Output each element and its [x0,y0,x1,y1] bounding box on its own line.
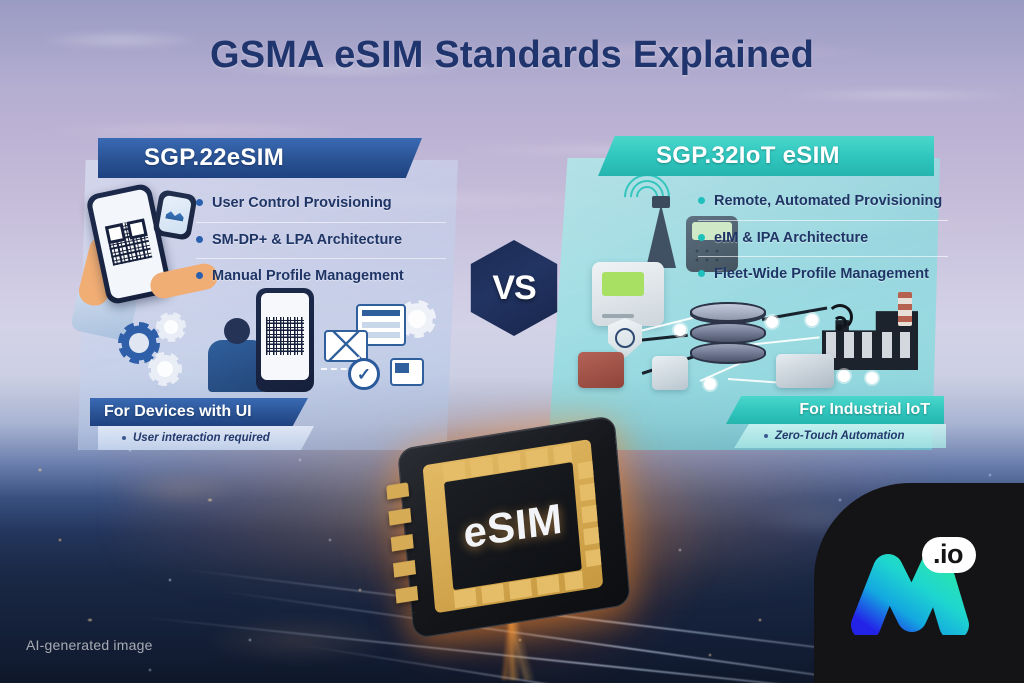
wifi-dot [836,324,843,331]
bullet-dot-icon [122,436,126,440]
gateway-device-icon [592,262,664,326]
page-title: GSMA eSIM Standards Explained [0,34,1024,77]
logo-wordmark: .io [922,537,976,573]
qr-code-icon [266,317,304,355]
ai-generated-watermark: AI-generated image [26,637,153,653]
list-item-label: SM-DP+ & LPA Architecture [212,232,402,249]
chip-die: eSIM [444,462,582,590]
ribbon-title-sub: eSIM [227,144,284,172]
list-item-label: User Control Provisioning [212,195,392,212]
checkmark-icon: ✓ [348,358,380,390]
chimney-icon [898,292,912,326]
panel-sgp32-ribbon-title: SGP.32 IoT eSIM [598,136,934,176]
list-item: User Control Provisioning [196,186,446,222]
chip-label: eSIM [461,494,564,558]
infographic-canvas: GSMA eSIM Standards Explained ✓ [0,0,1024,683]
iot-box-icon [578,352,624,388]
list-item-label: Fleet-Wide Profile Management [714,266,929,283]
list-item: eIM & IPA Architecture [698,220,948,257]
list-item: Fleet-Wide Profile Management [698,256,948,293]
ribbon-title-sub: IoT eSIM [739,142,840,170]
bullet-dot-icon [698,270,705,277]
panel-sgp22-ribbon-title: SGP.22 eSIM [98,138,422,178]
footer-note-label: Zero-Touch Automation [775,430,904,442]
cell-tower-icon [644,196,678,270]
iot-box-icon [776,354,834,388]
qr-code-icon [105,218,152,265]
network-node-icon [766,316,778,328]
bullet-dot-icon [698,234,705,241]
list-item-label: Remote, Automated Provisioning [714,193,942,210]
esim-chip: eSIM [397,415,631,639]
network-node-icon [806,314,818,326]
footer-note-label: User interaction required [133,432,270,444]
mini-window-icon [390,358,424,386]
person-head [224,318,250,344]
bullet-dot-icon [196,236,203,243]
vs-badge: VS [466,240,562,336]
panel-sgp32-bullet-list: Remote, Automated Provisioning eIM & IPA… [698,184,948,293]
smartwatch-icon [152,189,197,241]
bullet-dot-icon [196,272,203,279]
list-item: Remote, Automated Provisioning [698,184,948,220]
ribbon-title-main: SGP.32 [656,142,739,170]
panel-sgp22-bullet-list: User Control Provisioning SM-DP+ & LPA A… [196,186,446,295]
network-node-icon [704,378,716,390]
network-node-icon [674,324,686,336]
iot-box-icon [652,356,688,390]
gear-icon [156,312,186,342]
bullet-dot-icon [764,434,768,438]
panel-sgp32-footer-label: For Industrial IoT [726,396,944,424]
list-item-label: eIM & IPA Architecture [714,230,868,247]
list-item: SM-DP+ & LPA Architecture [196,222,446,259]
factory-windows [826,332,914,358]
list-item: Manual Profile Management [196,258,446,295]
panel-sgp22-footer-note: User interaction required [98,426,314,450]
network-node-icon [838,370,850,382]
phone-scanning-icon [256,288,314,392]
network-node-icon [866,372,878,384]
ribbon-title-main: SGP.22 [144,144,227,172]
bullet-dot-icon [196,199,203,206]
panel-sgp22-footer-label: For Devices with UI [90,398,308,426]
watch-face [158,195,192,235]
database-icon [690,302,766,374]
watch-wave-glyph [165,209,184,222]
vs-badge-label: VS [466,240,562,336]
gear-icon [148,352,182,386]
brand-logo[interactable]: .io [814,483,1024,683]
bullet-dot-icon [698,197,705,204]
panel-sgp32-footer-note: Zero-Touch Automation [734,424,946,448]
list-item-label: Manual Profile Management [212,268,404,285]
